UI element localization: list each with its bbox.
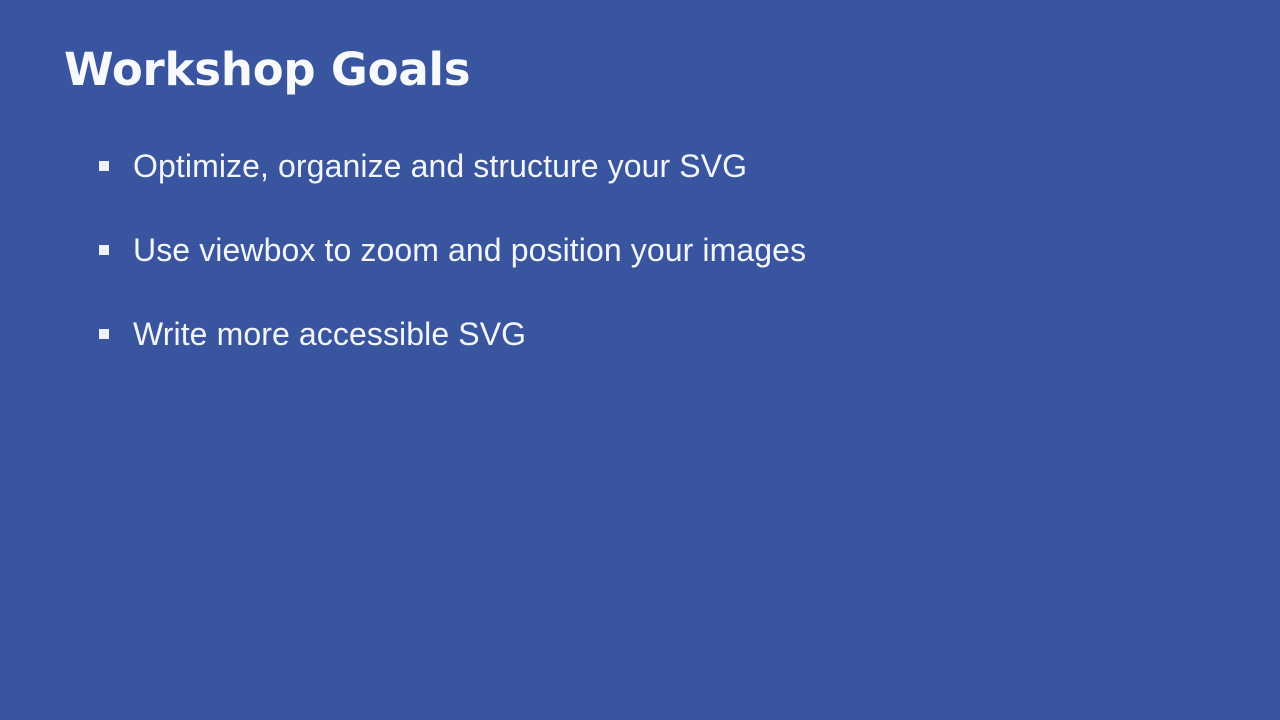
filled-square-bullet-icon <box>99 245 109 255</box>
list-item-label: Use viewbox to zoom and position your im… <box>133 230 806 270</box>
list-item: Use viewbox to zoom and position your im… <box>99 230 1199 314</box>
list-item: Optimize, organize and structure your SV… <box>99 146 1199 230</box>
list-item-label: Optimize, organize and structure your SV… <box>133 146 747 186</box>
filled-square-bullet-icon <box>99 161 109 171</box>
list-item: Write more accessible SVG <box>99 314 1199 398</box>
goals-bullet-list: Optimize, organize and structure your SV… <box>99 146 1199 398</box>
list-item-label: Write more accessible SVG <box>133 314 526 354</box>
presentation-slide: Workshop Goals Optimize, organize and st… <box>0 0 1280 720</box>
filled-square-bullet-icon <box>99 329 109 339</box>
page-title: Workshop Goals <box>64 46 470 95</box>
